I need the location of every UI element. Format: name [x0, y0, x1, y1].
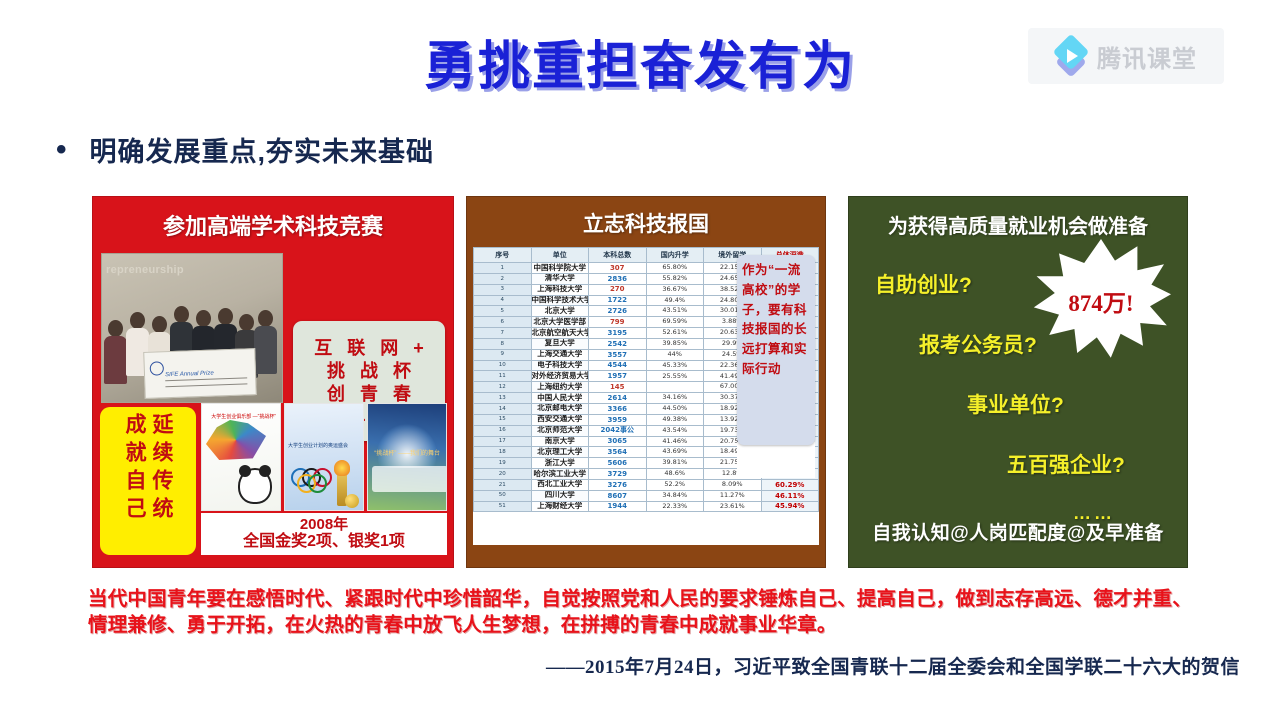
slogan-col-right: 延续传统: [151, 413, 172, 555]
cell-pct-3: 34.84%: [646, 490, 704, 501]
cell-total: 3366: [589, 403, 647, 414]
cell-overall: 45.94%: [761, 501, 819, 512]
cell-total: 8607: [589, 490, 647, 501]
cell-total: 270: [589, 284, 647, 295]
cell-pct-3: 52.61%: [646, 328, 704, 339]
employment-option-4: 五百强企业?: [1007, 449, 1125, 479]
cell-index: 5: [474, 306, 532, 317]
cell-index: 50: [474, 490, 532, 501]
cell-pct-3: 43.69%: [646, 447, 704, 458]
cell-university: 清华大学: [531, 273, 589, 284]
cell-university: 浙江大学: [531, 458, 589, 469]
panel2-body: 序号单位本科总数国内升学境外留学总体深造 1中国科学院大学30765.80%22…: [473, 247, 819, 545]
cell-university: 北京航空航天大学: [531, 328, 589, 339]
panel2-heading: 立志科技报国: [467, 197, 825, 247]
cell-university: 对外经济贸易大学: [531, 371, 589, 382]
table-col-3: 国内升学: [646, 248, 704, 263]
quote-text: 当代中国青年要在感悟时代、紧跟时代中珍惜韶华，自觉按照党和人民的要求锤炼自己、提…: [88, 586, 1192, 639]
table-row: 51上海财经大学194422.33%23.61%45.94%: [474, 501, 819, 512]
cell-pct-3: 55.82%: [646, 273, 704, 284]
cell-pct-3: 36.67%: [646, 284, 704, 295]
cell-university: 中国人民大学: [531, 393, 589, 404]
cell-university: 上海科技大学: [531, 284, 589, 295]
poster-2: 大学生创业计划的奥运盛会: [284, 403, 364, 511]
cell-index: 8: [474, 338, 532, 349]
cell-pct-3: 45.33%: [646, 360, 704, 371]
cell-total: 5606: [589, 458, 647, 469]
table-row: 21西北工业大学327652.2%8.09%60.29%: [474, 479, 819, 490]
cell-pct-4: 23.61%: [704, 501, 762, 512]
cell-university: 北京大学医学部: [531, 317, 589, 328]
bullet-icon: •: [56, 135, 68, 165]
panel-competitions: 参加高端学术科技竞赛 repreneurship SIFE Annual Pri…: [92, 196, 454, 568]
cell-total: 307: [589, 263, 647, 274]
cell-university: 哈尔滨工业大学: [531, 469, 589, 480]
subtitle: • 明确发展重点,夯实未来基础: [56, 130, 434, 169]
employment-option-1: 自助创业?: [875, 269, 972, 299]
note-box-backing: [737, 442, 815, 478]
cell-pct-3: 43.54%: [646, 425, 704, 436]
poster-1: 大学生创业俱乐部 —“挑战杯”: [201, 403, 281, 511]
panel-serve-nation: 立志科技报国 序号单位本科总数国内升学境外留学总体深造 1中国科学院大学3076…: [466, 196, 826, 568]
poster-3-caption: “挑战杯” ——我们的舞台: [374, 448, 440, 457]
employment-footer: 自我认知@人岗匹配度@及早准备: [849, 518, 1187, 545]
cell-total: 3959: [589, 414, 647, 425]
cell-index: 7: [474, 328, 532, 339]
cell-pct-3: [646, 382, 704, 393]
employment-option-3: 事业单位?: [967, 389, 1064, 419]
cell-university: 西安交通大学: [531, 414, 589, 425]
cell-index: 51: [474, 501, 532, 512]
cell-index: 10: [474, 360, 532, 371]
cell-total: 3564: [589, 447, 647, 458]
cell-total: 3557: [589, 349, 647, 360]
subtitle-text: 明确发展重点,夯实未来基础: [90, 130, 435, 169]
cell-index: 4: [474, 295, 532, 306]
cell-total: 1944: [589, 501, 647, 512]
group-photo: repreneurship SIFE Annual Prize: [101, 253, 283, 403]
cell-index: 15: [474, 414, 532, 425]
cell-pct-3: 48.6%: [646, 469, 704, 480]
cell-index: 1: [474, 263, 532, 274]
cell-university: 中国科学技术大学: [531, 295, 589, 306]
panel1-heading: 参加高端学术科技竞赛: [93, 197, 453, 251]
graduate-count-burst: 874万!: [1031, 239, 1171, 359]
cell-pct-3: 39.81%: [646, 458, 704, 469]
cell-total: 2726: [589, 306, 647, 317]
award-detail: 全国金奖2项、银奖1项: [243, 533, 405, 552]
cell-pct-3: 69.59%: [646, 317, 704, 328]
table-col-0: 序号: [474, 248, 532, 263]
cell-pct-3: 44%: [646, 349, 704, 360]
cell-total: 145: [589, 382, 647, 393]
cell-index: 11: [474, 371, 532, 382]
cell-total: 1722: [589, 295, 647, 306]
cell-total: 3195: [589, 328, 647, 339]
cell-index: 16: [474, 425, 532, 436]
cell-pct-4: 8.09%: [704, 479, 762, 490]
table-row: 50四川大学860734.84%11.27%46.11%: [474, 490, 819, 501]
cell-university: 上海纽约大学: [531, 382, 589, 393]
cell-university: 北京理工大学: [531, 447, 589, 458]
competition-item-1: 互 联 网 +: [309, 338, 429, 359]
cell-index: 19: [474, 458, 532, 469]
cell-university: 上海财经大学: [531, 501, 589, 512]
cell-index: 12: [474, 382, 532, 393]
cell-pct-3: 49.38%: [646, 414, 704, 425]
cheque-text: SIFE Annual Prize: [165, 371, 214, 379]
cell-total: 2836: [589, 273, 647, 284]
panel3-body: 874万! 自助创业? 报考公务员? 事业单位? 五百强企业? …… 自我认知@…: [849, 247, 1187, 553]
cell-pct-3: 39.85%: [646, 338, 704, 349]
cell-total: 2542: [589, 338, 647, 349]
table-col-2: 本科总数: [589, 248, 647, 263]
cell-university: 电子科技大学: [531, 360, 589, 371]
cell-pct-4: 11.27%: [704, 490, 762, 501]
play-diamond-icon: [1055, 38, 1089, 74]
cell-pct-3: 44.50%: [646, 403, 704, 414]
poster-collage: 大学生创业俱乐部 —“挑战杯” 大学生创业计划的奥运盛会 “挑战杯” ——我们的…: [201, 403, 447, 511]
cell-index: 17: [474, 436, 532, 447]
cell-index: 9: [474, 349, 532, 360]
photo-banner-text: repreneurship: [106, 264, 184, 276]
table-col-1: 单位: [531, 248, 589, 263]
cell-total: 4544: [589, 360, 647, 371]
cell-university: 北京师范大学: [531, 425, 589, 436]
quote-attribution: ——2015年7月24日，习近平致全国青联十二届全委会和全国学联二十六大的贺信: [0, 652, 1240, 679]
cell-total: 3276: [589, 479, 647, 490]
cell-pct-3: 34.16%: [646, 393, 704, 404]
cell-total: 3065: [589, 436, 647, 447]
slide-root: 勇挑重担奋发有为 腾讯课堂 • 明确发展重点,夯实未来基础 参加高端学术科技竞赛…: [0, 0, 1280, 720]
employment-option-2: 报考公务员?: [919, 329, 1037, 359]
tencent-classroom-logo: 腾讯课堂: [1028, 28, 1224, 84]
cell-pct-3: 22.33%: [646, 501, 704, 512]
panel1-body: repreneurship SIFE Annual Prize: [93, 251, 453, 553]
cell-total: 2042事公: [589, 425, 647, 436]
cell-total: 799: [589, 317, 647, 328]
award-year: 2008年: [300, 516, 348, 534]
cell-index: 13: [474, 393, 532, 404]
cell-university: 上海交通大学: [531, 349, 589, 360]
cell-total: 2614: [589, 393, 647, 404]
cell-index: 2: [474, 273, 532, 284]
cell-university: 中国科学院大学: [531, 263, 589, 274]
cell-pct-3: 65.80%: [646, 263, 704, 274]
cell-index: 20: [474, 469, 532, 480]
award-summary: 2008年 全国金奖2项、银奖1项: [201, 513, 447, 555]
cell-pct-3: 43.51%: [646, 306, 704, 317]
cell-index: 21: [474, 479, 532, 490]
cell-university: 四川大学: [531, 490, 589, 501]
graduate-count-value: 874万!: [1068, 284, 1133, 318]
cell-index: 6: [474, 317, 532, 328]
logo-label: 腾讯课堂: [1097, 39, 1197, 74]
cell-pct-3: 41.46%: [646, 436, 704, 447]
competition-item-2: 挑 战 杯: [322, 361, 416, 382]
cell-pct-3: 52.2%: [646, 479, 704, 490]
poster-3: “挑战杯” ——我们的舞台: [367, 403, 447, 511]
cell-university: 西北工业大学: [531, 479, 589, 490]
slogan-col-left: 成就自己: [124, 413, 145, 555]
cell-university: 复旦大学: [531, 338, 589, 349]
cell-pct-3: 25.55%: [646, 371, 704, 382]
cell-index: 14: [474, 403, 532, 414]
panel-employment: 为获得高质量就业机会做准备 874万! 自助创业? 报考公务员? 事业单位? 五…: [848, 196, 1188, 568]
cell-overall: 46.11%: [761, 490, 819, 501]
cell-overall: 60.29%: [761, 479, 819, 490]
cell-total: 3729: [589, 469, 647, 480]
cell-pct-3: 49.4%: [646, 295, 704, 306]
cell-index: 3: [474, 284, 532, 295]
prize-cheque: SIFE Annual Prize: [143, 348, 257, 399]
slogan-yellow-box: 成就自己 延续传统: [100, 407, 196, 555]
panel3-heading: 为获得高质量就业机会做准备: [849, 197, 1187, 247]
cell-university: 北京大学: [531, 306, 589, 317]
cell-index: 18: [474, 447, 532, 458]
poster-1-caption: 大学生创业俱乐部 —“挑战杯”: [211, 414, 276, 422]
cell-university: 南京大学: [531, 436, 589, 447]
cell-total: 1957: [589, 371, 647, 382]
poster-2-caption: 大学生创业计划的奥运盛会: [288, 442, 348, 449]
serve-nation-note: 作为“一流高校”的学子，要有科技报国的长远打算和实际行动: [737, 255, 815, 445]
cell-university: 北京邮电大学: [531, 403, 589, 414]
